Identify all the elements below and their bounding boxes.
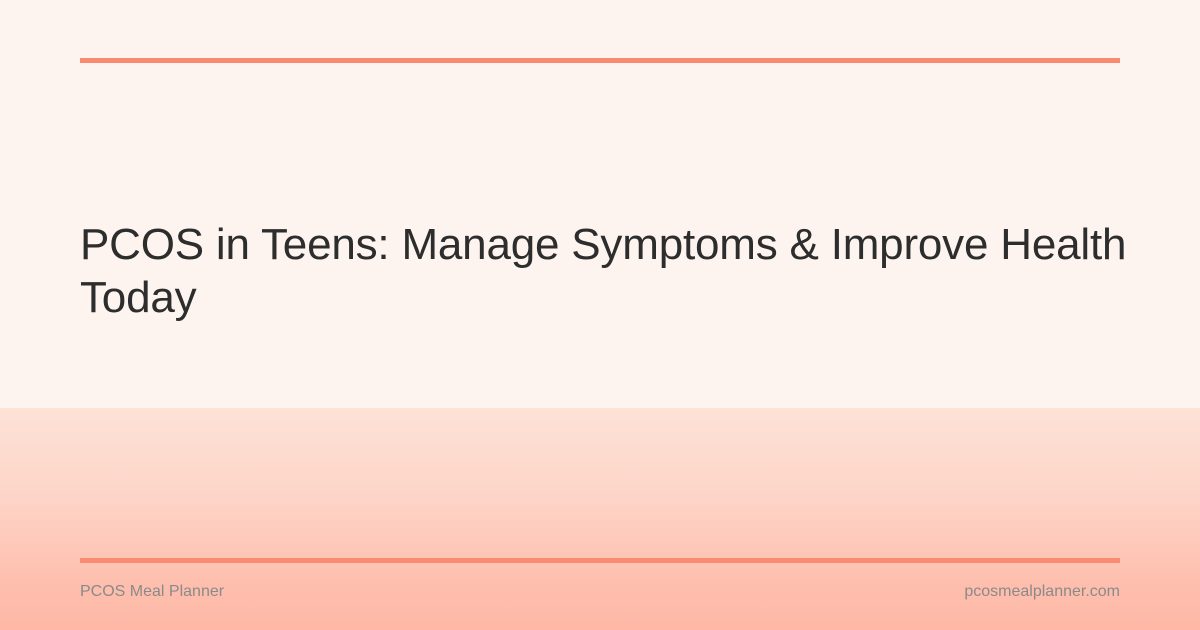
- footer-brand-name: PCOS Meal Planner: [80, 578, 224, 606]
- share-card: PCOS in Teens: Manage Symptoms & Improve…: [0, 0, 1200, 630]
- page-title-container: PCOS in Teens: Manage Symptoms & Improve…: [80, 218, 1170, 324]
- footer-domain: pcosmealplanner.com: [964, 578, 1120, 606]
- page-title: PCOS in Teens: Manage Symptoms & Improve…: [80, 218, 1170, 324]
- top-accent-rule: [80, 58, 1120, 63]
- card-footer: PCOS Meal Planner pcosmealplanner.com: [80, 578, 1120, 606]
- bottom-accent-rule: [80, 558, 1120, 563]
